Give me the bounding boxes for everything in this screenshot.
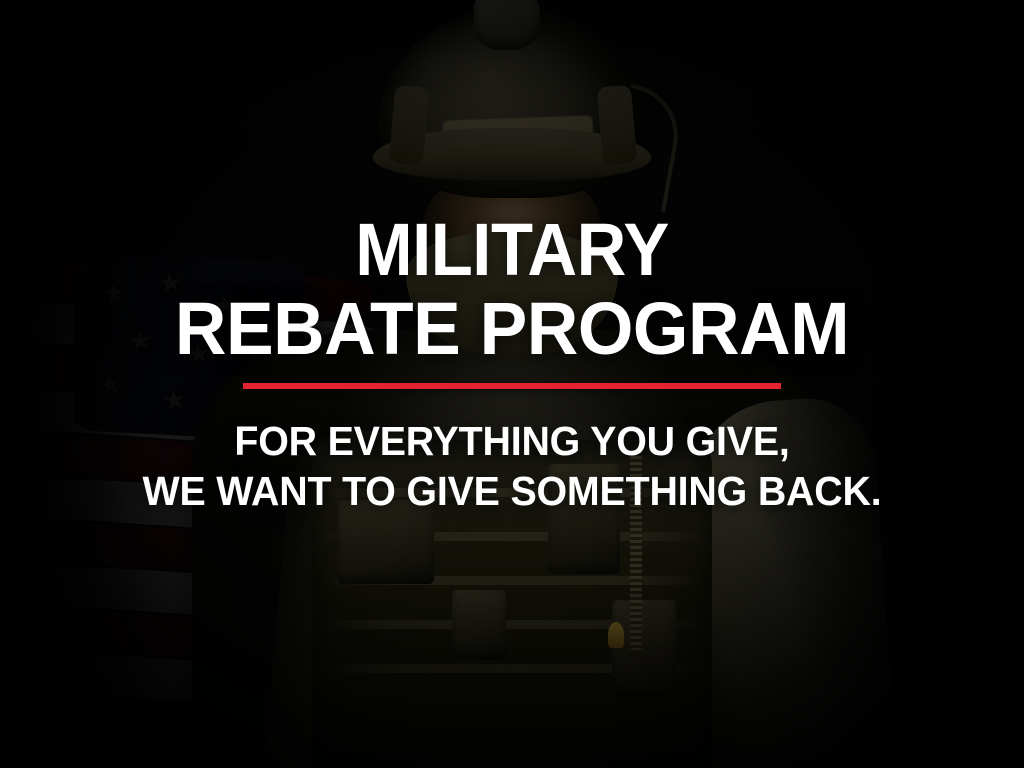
- tagline-line-1: FOR EVERYTHING YOU GIVE,: [20, 417, 1003, 465]
- page-title-line-1: MILITARY: [36, 214, 988, 287]
- accent-divider: [243, 383, 781, 389]
- page-title-line-2: REBATE PROGRAM: [18, 293, 1006, 366]
- tagline-line-2: WE WANT TO GIVE SOMETHING BACK.: [20, 467, 1003, 515]
- military-rebate-poster: MILITARY REBATE PROGRAM FOR EVERYTHING Y…: [0, 0, 1024, 768]
- text-overlay: MILITARY REBATE PROGRAM FOR EVERYTHING Y…: [0, 0, 1024, 768]
